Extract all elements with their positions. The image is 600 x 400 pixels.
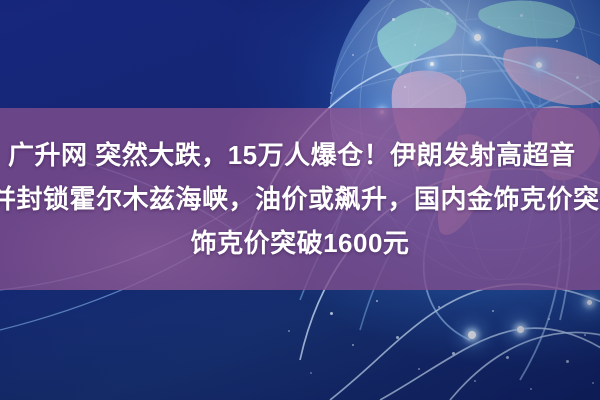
headline-line-3: 饰克价突破1600元 — [0, 221, 600, 265]
news-banner: 广升网 突然大跌，15万人爆仓！伊朗发射高超音 并封锁霍尔木兹海峡，油价或飙升，… — [0, 0, 600, 400]
headline-block: 广升网 突然大跌，15万人爆仓！伊朗发射高超音 并封锁霍尔木兹海峡，油价或飙升，… — [0, 108, 600, 290]
headline-line-2: 并封锁霍尔木兹海峡，油价或飙升，国内金饰克价突破 — [0, 177, 600, 221]
headline-line-1: 广升网 突然大跌，15万人爆仓！伊朗发射高超音 — [0, 133, 600, 177]
